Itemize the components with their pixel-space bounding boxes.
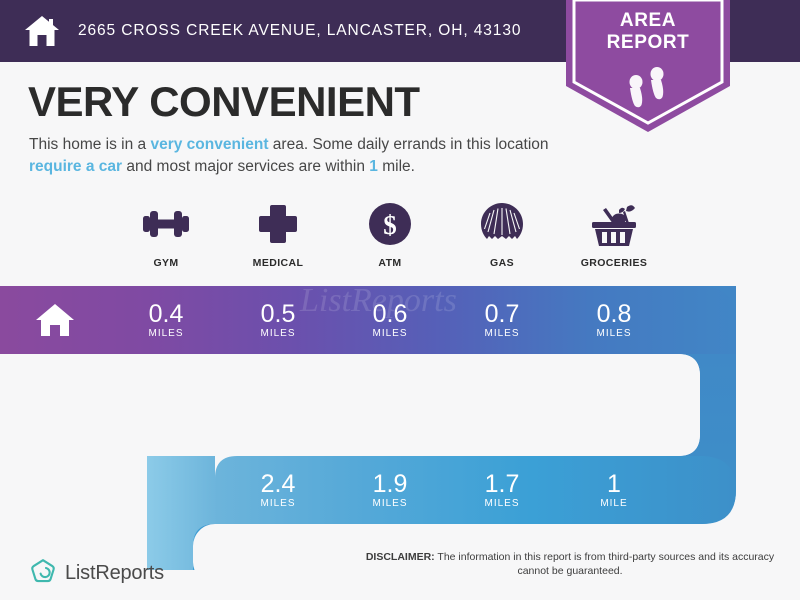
distance-unit: MILES xyxy=(372,498,407,509)
subtitle-highlight-2: require a car xyxy=(29,158,122,175)
basket-icon xyxy=(589,198,639,250)
distance-unit: MILES xyxy=(484,498,519,509)
subtitle-highlight-1: very convenient xyxy=(150,136,268,153)
distance-unit: MILES xyxy=(484,328,519,339)
svg-text:$: $ xyxy=(383,210,397,240)
distance-unit: MILES xyxy=(148,328,183,339)
distance-value: 1 xyxy=(607,471,621,497)
distance-unit: MILES xyxy=(260,328,295,339)
distance-row-primary: 0.4 MILES 0.5 MILES 0.6 MILES 0.7 MILES … xyxy=(110,286,670,354)
shell-icon xyxy=(479,198,525,250)
icon-label: GROCERIES xyxy=(581,257,648,269)
distance-value: 0.7 xyxy=(485,301,520,327)
icon-label: GAS xyxy=(490,257,514,269)
distance-row-secondary: 2.4 MILES 1.9 MILES 1.7 MILES 1 MILE xyxy=(222,456,670,524)
distance-segment: 0.6 MILES xyxy=(334,286,446,354)
icon-cell-medical: MEDICAL xyxy=(222,198,334,269)
subtitle-part-2: area. Some daily errands in this locatio… xyxy=(269,136,549,153)
badge-line-2: REPORT xyxy=(566,32,730,54)
disclaimer-text: The information in this report is from t… xyxy=(435,551,774,577)
badge-line-1: AREA xyxy=(566,10,730,32)
icon-row-primary: GYM MEDICAL $ ATM xyxy=(110,198,670,269)
icon-label: MEDICAL xyxy=(253,257,304,269)
disclaimer-label: DISCLAIMER: xyxy=(366,551,435,563)
distance-segment: 1 MILE xyxy=(558,456,670,524)
listreports-logo-text: ListReports xyxy=(65,562,164,585)
page-title: VERY CONVENIENT xyxy=(28,78,420,126)
distance-unit: MILES xyxy=(372,328,407,339)
distance-value: 0.4 xyxy=(149,301,184,327)
distance-segment: 0.8 MILES xyxy=(558,286,670,354)
distance-value: 1.9 xyxy=(373,471,408,497)
icon-label: GYM xyxy=(153,257,178,269)
distance-value: 0.8 xyxy=(597,301,632,327)
property-address: 2665 CROSS CREEK AVENUE, LANCASTER, OH, … xyxy=(78,22,521,40)
listreports-logo: ListReports xyxy=(30,558,164,589)
distance-unit: MILES xyxy=(260,498,295,509)
distance-segment: 0.4 MILES xyxy=(110,286,222,354)
distance-segment: 0.7 MILES xyxy=(446,286,558,354)
distance-value: 1.7 xyxy=(485,471,520,497)
distance-unit: MILES xyxy=(596,328,631,339)
distance-segment: 1.9 MILES xyxy=(334,456,446,524)
distance-value: 2.4 xyxy=(261,471,296,497)
dollar-circle-icon: $ xyxy=(367,198,413,250)
distance-value: 0.5 xyxy=(261,301,296,327)
subtitle-part-4: mile. xyxy=(378,158,415,175)
disclaimer: DISCLAIMER: The information in this repo… xyxy=(355,550,785,578)
icon-cell-gas: GAS xyxy=(446,198,558,269)
subtitle-highlight-3: 1 xyxy=(369,158,378,175)
distance-segment: 2.4 MILES xyxy=(222,456,334,524)
house-icon xyxy=(22,11,62,51)
home-marker xyxy=(0,286,110,354)
listreports-logo-icon xyxy=(30,558,56,589)
icon-cell-gym: GYM xyxy=(110,198,222,269)
distance-unit: MILE xyxy=(600,498,627,509)
area-report-badge: AREA REPORT xyxy=(566,0,730,132)
page-subtitle: This home is in a very convenient area. … xyxy=(29,134,549,178)
icon-cell-groceries: GROCERIES xyxy=(558,198,670,269)
subtitle-part-1: This home is in a xyxy=(29,136,150,153)
icon-label: ATM xyxy=(378,257,401,269)
distance-value: 0.6 xyxy=(373,301,408,327)
badge-label: AREA REPORT xyxy=(566,10,730,54)
dumbbell-icon xyxy=(139,198,193,250)
subtitle-part-3: and most major services are within xyxy=(122,158,369,175)
icon-cell-atm: $ ATM xyxy=(334,198,446,269)
distance-segment: 0.5 MILES xyxy=(222,286,334,354)
distance-segment: 1.7 MILES xyxy=(446,456,558,524)
medical-cross-icon xyxy=(256,198,300,250)
